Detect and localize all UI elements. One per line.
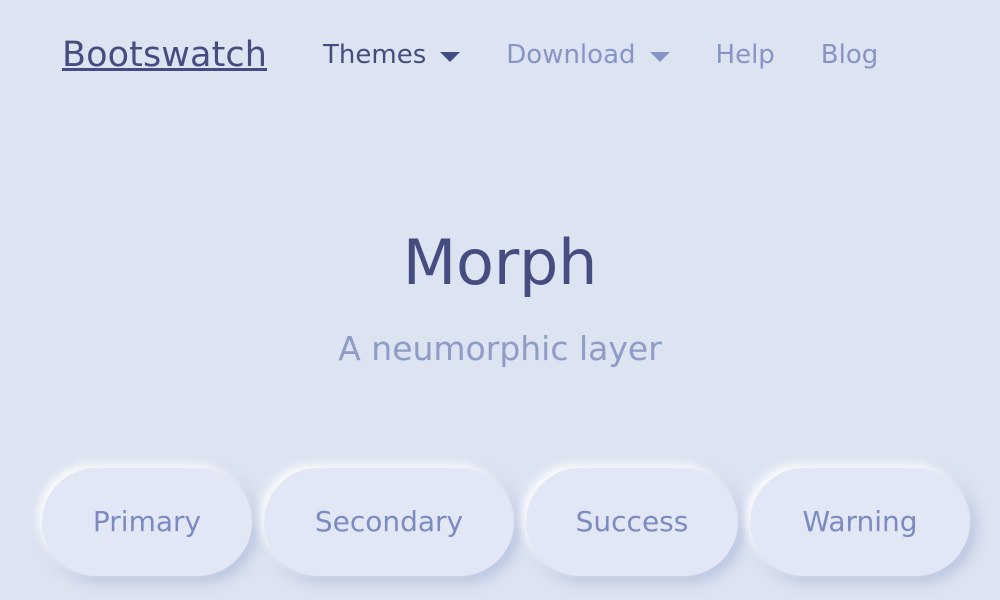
warning-button[interactable]: Warning <box>750 468 970 576</box>
nav-item-themes-label: Themes <box>323 42 426 68</box>
brand-logo[interactable]: Bootswatch <box>62 38 267 73</box>
nav-item-blog[interactable]: Blog <box>821 42 878 68</box>
nav-item-download-label: Download <box>506 42 635 68</box>
secondary-button[interactable]: Secondary <box>264 468 514 576</box>
chevron-down-icon <box>440 52 460 62</box>
hero-section: Morph A neumorphic layer <box>0 232 1000 365</box>
nav-item-download[interactable]: Download <box>506 42 669 68</box>
page-subtitle: A neumorphic layer <box>0 332 1000 365</box>
primary-button[interactable]: Primary <box>42 468 252 576</box>
nav-item-themes[interactable]: Themes <box>323 42 460 68</box>
main-navbar: Bootswatch Themes Download Help Blog <box>0 0 1000 110</box>
success-button[interactable]: Success <box>526 468 738 576</box>
button-showcase-row: Primary Secondary Success Warning <box>42 468 958 576</box>
page-title: Morph <box>0 232 1000 294</box>
nav-links: Themes Download Help Blog <box>323 42 878 68</box>
nav-item-help[interactable]: Help <box>716 42 775 68</box>
chevron-down-icon <box>650 52 670 62</box>
